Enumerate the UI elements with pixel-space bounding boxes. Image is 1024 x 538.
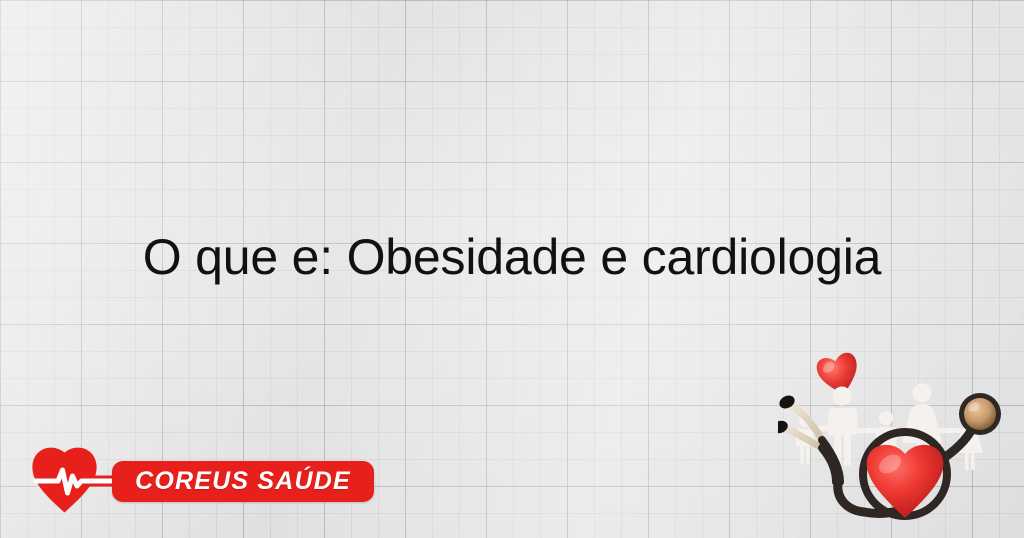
brand-name-label: COREUS SAÚDE <box>135 467 351 496</box>
brand-name-badge: COREUS SAÚDE <box>112 461 374 502</box>
cardiology-health-illustration <box>778 348 1018 534</box>
page-title: O que e: Obesidade e cardiologia <box>0 232 1024 282</box>
brand-logo[interactable]: COREUS SAÚDE <box>28 446 358 518</box>
slide-canvas: O que e: Obesidade e cardiologia COREUS … <box>0 0 1024 538</box>
stethoscope-chestpiece-icon <box>959 393 1001 435</box>
